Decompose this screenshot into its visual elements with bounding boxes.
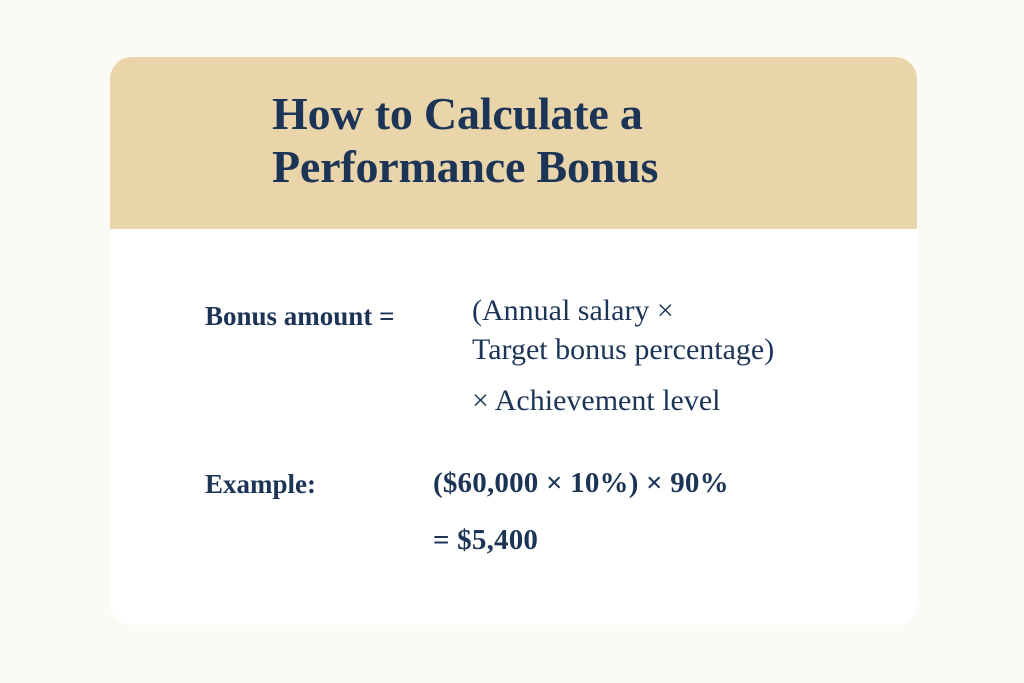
example-line-1: ($60,000 × 10%) × 90% [433, 464, 729, 502]
bonus-formula-expression: (Annual salary × Target bonus percentage… [472, 291, 774, 420]
card-header-band: How to Calculate a Performance Bonus [110, 57, 917, 229]
example-label: Example: [205, 464, 433, 503]
bonus-formula-label: Bonus amount = [205, 291, 472, 335]
bonus-formula-row: Bonus amount = (Annual salary × Target b… [205, 291, 905, 420]
example-expression: ($60,000 × 10%) × 90% = $5,400 [433, 464, 729, 559]
formula-line-3: × Achievement level [472, 381, 774, 420]
example-line-2: = $5,400 [433, 521, 729, 559]
page-title: How to Calculate a Performance Bonus [272, 87, 892, 193]
formula-line-2: Target bonus percentage) [472, 330, 774, 369]
example-row: Example: ($60,000 × 10%) × 90% = $5,400 [205, 464, 905, 559]
infographic-card: How to Calculate a Performance Bonus Bon… [110, 57, 917, 625]
card-body: Bonus amount = (Annual salary × Target b… [110, 229, 917, 625]
formula-line-1: (Annual salary × [472, 291, 774, 330]
